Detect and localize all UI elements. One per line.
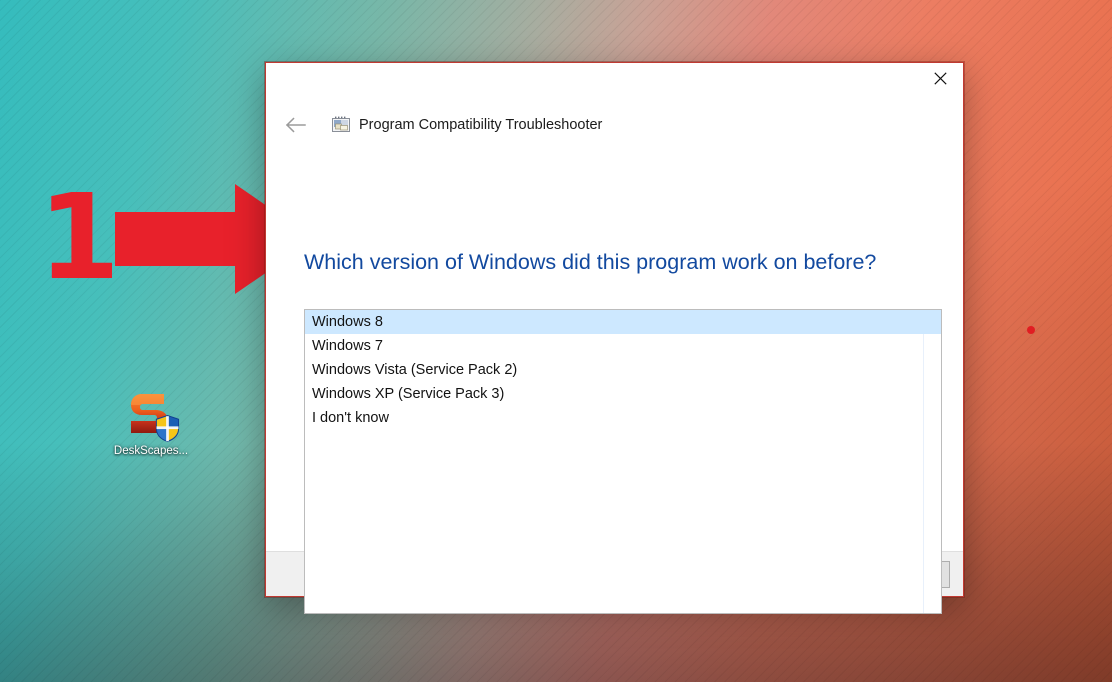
annotation-step-1-number: 1 bbox=[38, 178, 120, 296]
list-item-windows-xp[interactable]: Windows XP (Service Pack 3) bbox=[305, 382, 941, 406]
dialog-titlebar bbox=[266, 63, 963, 107]
program-compatibility-troubleshooter-dialog: Program Compatibility Troubleshooter Whi… bbox=[265, 62, 964, 597]
page-heading: Which version of Windows did this progra… bbox=[304, 248, 876, 276]
desktop-icon-label: DeskScapes... bbox=[105, 445, 197, 458]
back-button[interactable] bbox=[283, 113, 307, 137]
close-icon bbox=[934, 72, 947, 85]
list-item-windows-7[interactable]: Windows 7 bbox=[305, 334, 941, 358]
dialog-body: Which version of Windows did this progra… bbox=[266, 143, 963, 551]
desktop[interactable]: DeskScapes... 1 2 bbox=[0, 0, 1112, 682]
desktop-icon-art bbox=[123, 386, 179, 442]
close-button[interactable] bbox=[917, 63, 963, 93]
list-item-windows-vista[interactable]: Windows Vista (Service Pack 2) bbox=[305, 358, 941, 382]
windows-version-listbox[interactable]: Windows 8 Windows 7 Windows Vista (Servi… bbox=[304, 309, 942, 614]
dialog-nav-row: Program Compatibility Troubleshooter bbox=[266, 107, 963, 143]
list-item-i-dont-know[interactable]: I don't know bbox=[305, 406, 941, 430]
desktop-icon-deskscapes[interactable]: DeskScapes... bbox=[105, 386, 197, 458]
dialog-title: Program Compatibility Troubleshooter bbox=[359, 116, 602, 134]
arrow-left-icon bbox=[285, 117, 306, 133]
uac-shield-icon bbox=[154, 414, 181, 443]
cursor-dot bbox=[1027, 326, 1035, 334]
program-compatibility-icon bbox=[332, 116, 350, 134]
list-item-windows-8[interactable]: Windows 8 bbox=[305, 310, 941, 334]
